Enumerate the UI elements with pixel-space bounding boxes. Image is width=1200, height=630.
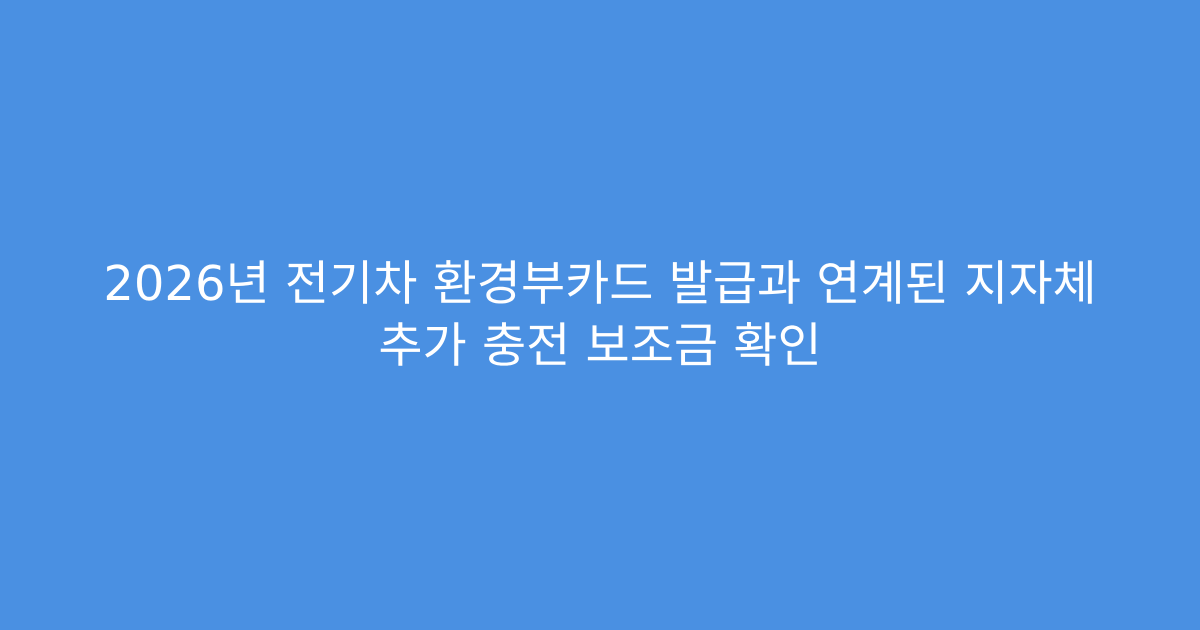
- banner-title: 2026년 전기차 환경부카드 발급과 연계된 지자체 추가 충전 보조금 확인: [60, 253, 1140, 377]
- banner-content: 2026년 전기차 환경부카드 발급과 연계된 지자체 추가 충전 보조금 확인: [60, 253, 1140, 377]
- og-banner-card: 2026년 전기차 환경부카드 발급과 연계된 지자체 추가 충전 보조금 확인: [0, 0, 1200, 630]
